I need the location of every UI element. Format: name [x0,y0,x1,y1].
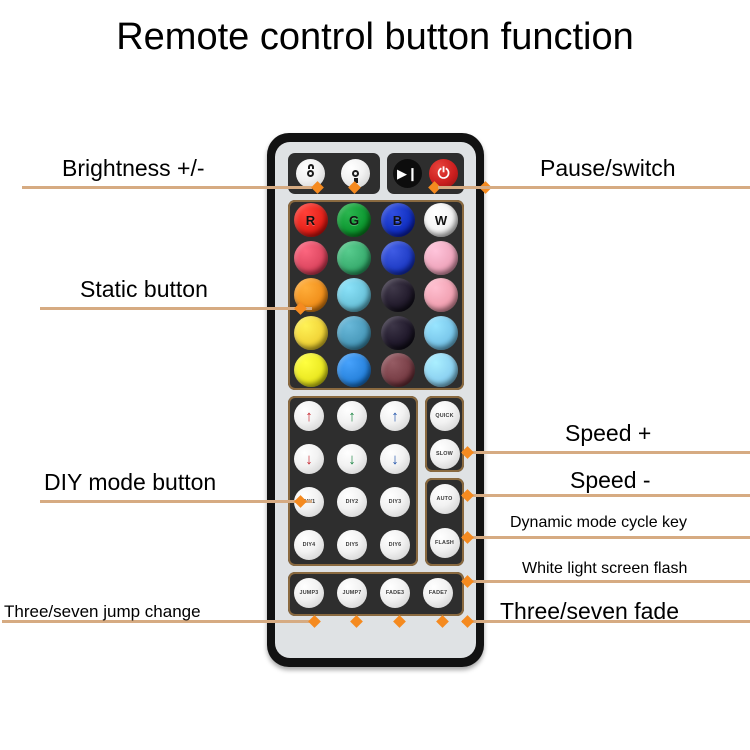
color-button-r5c4[interactable] [424,353,458,387]
jump-fade-panel: JUMP3JUMP7FADE3FADE7 [288,572,464,616]
color-button-r4c4[interactable] [424,316,458,350]
callout-leader-line [462,580,750,583]
callout-label-color-grid: Static button [80,276,208,303]
color-button-r2c2[interactable] [337,241,371,275]
color-button-label: W [435,213,447,228]
diy-button-5[interactable]: DIY5 [337,530,367,560]
callout-label-fade-buttons: Three/seven fade [500,598,679,625]
color-button-r5c1[interactable] [294,353,328,387]
remote-control-device: ▶❙ ⏻ RGBW ↑↑↑↓↓↓DIY1DIY2DIY3DIY4DIY5DIY6… [267,133,484,667]
callout-leader-line [438,186,750,189]
color-button-r1c3[interactable]: B [381,203,415,237]
blue-up-button[interactable]: ↑ [380,401,410,431]
color-button-r1c1[interactable]: R [294,203,328,237]
callout-label-flash-button: White light screen flash [522,560,687,578]
diy-button-label: DIY6 [389,542,402,548]
green-down-arrow-icon: ↓ [348,452,356,467]
quick-button[interactable]: QUICK [430,401,460,431]
green-up-arrow-icon: ↑ [348,409,356,424]
color-button-r5c2[interactable] [337,353,371,387]
diy-button-6[interactable]: DIY6 [380,530,410,560]
callout-leader-line [40,500,312,503]
red-up-arrow-icon: ↑ [305,409,313,424]
callout-label-brightness-buttons: Brightness +/- [62,155,205,182]
callout-label-play-power-buttons: Pause/switch [540,155,676,182]
button-label: AUTO [437,496,453,502]
play-pause-button[interactable]: ▶❙ [393,159,422,188]
sun-up-icon [303,166,319,182]
color-button-label: R [306,213,315,228]
arrow-diy-panel: ↑↑↑↓↓↓DIY1DIY2DIY3DIY4DIY5DIY6 [288,396,418,566]
button-label: SLOW [436,451,453,457]
button-label: FADE7 [429,590,447,596]
color-button-r3c4[interactable] [424,278,458,312]
page-root: Remote control button function [0,0,750,750]
color-button-r2c1[interactable] [294,241,328,275]
button-label: FLASH [435,540,454,546]
callout-leader-line [22,186,312,189]
slow-button[interactable]: SLOW [430,439,460,469]
red-down-arrow-icon: ↓ [305,452,313,467]
jump7-button[interactable]: JUMP7 [337,578,367,608]
color-button-r2c3[interactable] [381,241,415,275]
button-label: FADE3 [386,590,404,596]
callout-leader-line [462,451,750,454]
fade7-button[interactable]: FADE7 [423,578,453,608]
blue-up-arrow-icon: ↑ [391,409,399,424]
callout-label-jump-buttons: Three/seven jump change [4,602,201,622]
button-label: JUMP7 [343,590,362,596]
button-label: QUICK [435,413,453,419]
color-button-r4c2[interactable] [337,316,371,350]
jump3-button[interactable]: JUMP3 [294,578,324,608]
color-button-label: G [349,213,359,228]
speed-panel: QUICKSLOW [425,396,464,472]
color-button-r5c3[interactable] [381,353,415,387]
play-pause-icon: ▶❙ [397,167,418,180]
color-button-r4c3[interactable] [381,316,415,350]
power-icon: ⏻ [438,166,450,181]
red-up-button[interactable]: ↑ [294,401,324,431]
diy-button-label: DIY4 [303,542,316,548]
callout-leader-line [462,536,750,539]
blue-down-button[interactable]: ↓ [380,444,410,474]
color-button-r4c1[interactable] [294,316,328,350]
diy-button-label: DIY2 [346,499,359,505]
sun-down-icon [348,166,364,182]
diy-button-2[interactable]: DIY2 [337,487,367,517]
mode-panel: AUTOFLASH [425,478,464,566]
color-grid: RGBW [288,200,464,390]
color-button-r3c3[interactable] [381,278,415,312]
color-button-r1c2[interactable]: G [337,203,371,237]
color-button-label: B [393,213,402,228]
fade3-button[interactable]: FADE3 [380,578,410,608]
color-button-r2c4[interactable] [424,241,458,275]
diy-button-label: DIY5 [346,542,359,548]
blue-down-arrow-icon: ↓ [391,452,399,467]
green-up-button[interactable]: ↑ [337,401,367,431]
color-button-r1c4[interactable]: W [424,203,458,237]
color-button-r3c2[interactable] [337,278,371,312]
callout-leader-line [40,307,312,310]
callout-leader-line [462,494,750,497]
diy-button-4[interactable]: DIY4 [294,530,324,560]
auto-button[interactable]: AUTO [430,484,460,514]
flash-button[interactable]: FLASH [430,528,460,558]
callout-label-quick-button: Speed + [565,420,651,447]
diy-button-3[interactable]: DIY3 [380,487,410,517]
remote-bezel: ▶❙ ⏻ RGBW ↑↑↑↓↓↓DIY1DIY2DIY3DIY4DIY5DIY6… [275,142,476,658]
red-down-button[interactable]: ↓ [294,444,324,474]
callout-label-auto-button: Dynamic mode cycle key [510,514,687,532]
green-down-button[interactable]: ↓ [337,444,367,474]
callout-label-diy-buttons: DIY mode button [44,469,216,496]
callout-label-slow-button: Speed - [570,467,651,494]
page-title: Remote control button function [0,16,750,59]
diy-button-label: DIY3 [389,499,402,505]
button-label: JUMP3 [300,590,319,596]
